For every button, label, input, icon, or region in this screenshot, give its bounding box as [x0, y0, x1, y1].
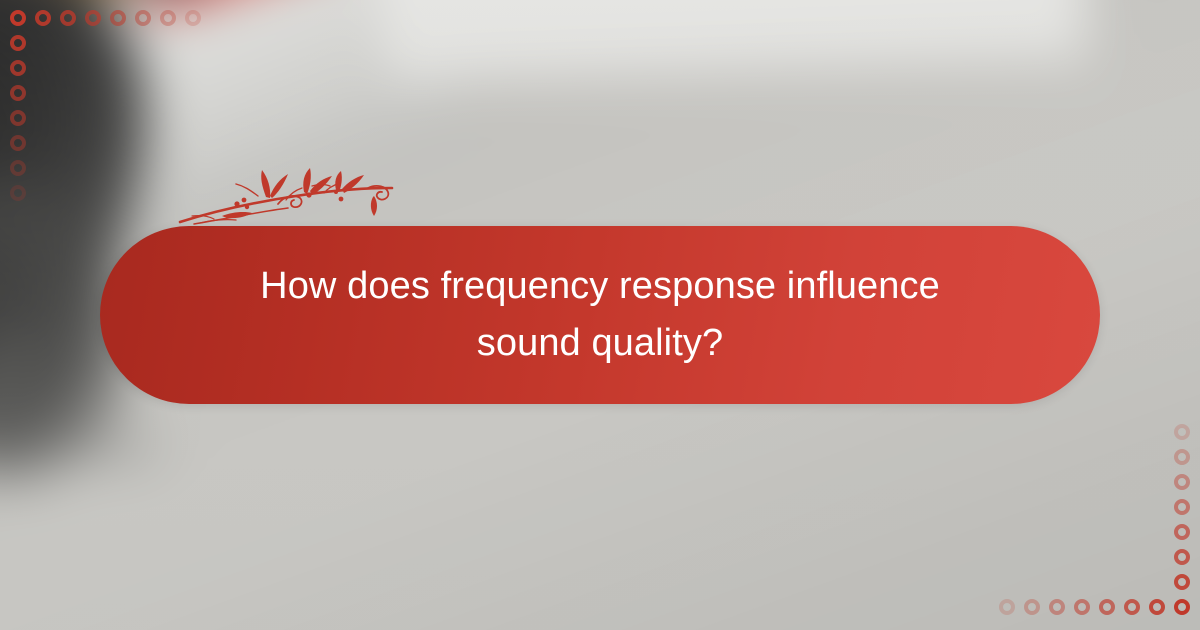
promo-card: How does frequency response influence so…: [0, 0, 1200, 630]
floral-branch-flourish: [178, 166, 406, 232]
headline-banner: How does frequency response influence so…: [100, 226, 1100, 404]
page-title: How does frequency response influence so…: [211, 258, 989, 372]
